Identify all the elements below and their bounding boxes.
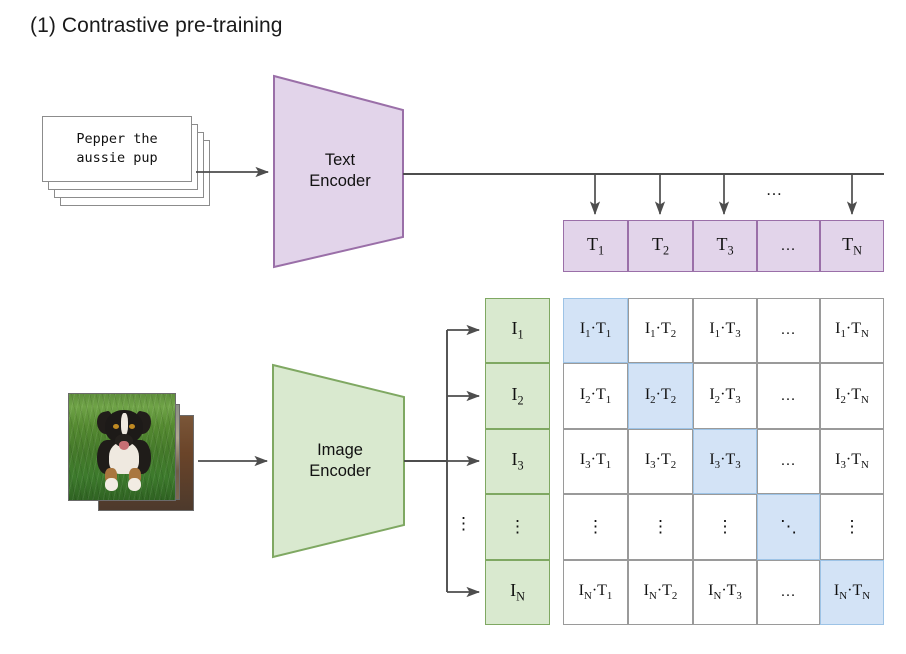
text-encoder-shape[interactable] <box>274 76 403 267</box>
text-embedding-cell-1[interactable]: T1 <box>563 220 628 272</box>
image-encoder-shape[interactable] <box>273 365 404 557</box>
text-embedding-cell-N[interactable]: TN <box>820 220 884 272</box>
cell-text: IN·T1 <box>579 582 613 602</box>
text-embedding-cell-2[interactable]: T2 <box>628 220 693 272</box>
matrix-cell-i2-tN[interactable]: I2·TN <box>820 363 884 429</box>
puppy-blaze <box>121 413 128 435</box>
puppy-paw-right <box>128 478 141 491</box>
matrix-cell-i2-t1[interactable]: I2·T1 <box>563 363 628 429</box>
cell-text: I2 <box>511 384 523 409</box>
cell-text: IN·T2 <box>644 582 678 602</box>
matrix-cell-r1-c4[interactable]: … <box>757 298 820 363</box>
matrix-cell-iN-t3[interactable]: IN·T3 <box>693 560 757 625</box>
image-embedding-cell-3[interactable]: I3 <box>485 429 550 494</box>
text-embedding-cell-3[interactable]: T3 <box>693 220 757 272</box>
puppy-tongue <box>119 441 129 450</box>
matrix-cell-r4-c3[interactable]: ⋮ <box>693 494 757 560</box>
puppy-eye-right <box>129 424 135 429</box>
image-input-stack <box>68 393 198 513</box>
cell-text: I1·T1 <box>580 320 611 340</box>
matrix-cell-r5-c4[interactable]: … <box>757 560 820 625</box>
matrix-cell-r4-c5[interactable]: ⋮ <box>820 494 884 560</box>
text-encoder-label: Text Encoder <box>278 150 402 192</box>
matrix-cell-i3-t1[interactable]: I3·T1 <box>563 429 628 494</box>
cell-text: I3 <box>511 449 523 474</box>
cell-text: IN·TN <box>834 582 870 602</box>
text-card-front: Pepper the aussie pup <box>42 116 192 182</box>
cell-text: T1 <box>587 234 604 259</box>
matrix-cell-r4-c1[interactable]: ⋮ <box>563 494 628 560</box>
image-encoder-label: Image Encoder <box>278 440 402 482</box>
matrix-cell-iN-t2[interactable]: IN·T2 <box>628 560 693 625</box>
matrix-cell-i2-t2[interactable]: I2·T2 <box>628 363 693 429</box>
cell-text: I3·T2 <box>645 451 676 471</box>
matrix-cell-i2-t3[interactable]: I2·T3 <box>693 363 757 429</box>
matrix-cell-iN-tN[interactable]: IN·TN <box>820 560 884 625</box>
image-embedding-cell-2[interactable]: I2 <box>485 363 550 429</box>
cell-text: T3 <box>716 234 733 259</box>
matrix-cell-i1-t1[interactable]: I1·T1 <box>563 298 628 363</box>
text-input-stack: Pepper the aussie pup <box>42 116 232 226</box>
image-embedding-cell-N[interactable]: IN <box>485 560 550 625</box>
puppy-eye-left <box>113 424 119 429</box>
matrix-cell-i1-tN[interactable]: I1·TN <box>820 298 884 363</box>
matrix-cell-i1-t2[interactable]: I1·T2 <box>628 298 693 363</box>
text-fanout-ellipsis: … <box>766 182 783 200</box>
cell-text: … <box>781 388 797 405</box>
image-encoder-line1: Image <box>278 440 402 461</box>
matrix-cell-r4-c4[interactable]: ⋱ <box>757 494 820 560</box>
diagram-canvas: (1) Contrastive pre-training Pepper the … <box>0 0 906 654</box>
page-title: (1) Contrastive pre-training <box>30 14 283 38</box>
cell-text: I2·TN <box>835 386 869 406</box>
text-encoder-line1: Text <box>278 150 402 171</box>
cell-text: I2·T3 <box>709 386 740 406</box>
cell-text: T2 <box>652 234 669 259</box>
cell-text: I1·T2 <box>645 320 676 340</box>
cell-text: I3·T3 <box>709 451 740 471</box>
cell-text: I1 <box>511 318 523 343</box>
image-encoder-line2: Encoder <box>278 461 402 482</box>
cell-text: I2·T2 <box>645 386 676 406</box>
matrix-cell-i1-t3[interactable]: I1·T3 <box>693 298 757 363</box>
puppy-paw-left <box>105 478 118 491</box>
puppy-figure <box>95 410 153 492</box>
matrix-cell-r2-c4[interactable]: … <box>757 363 820 429</box>
cell-text: I1·TN <box>835 320 869 340</box>
image-column-ellipsis: ⋮ <box>455 514 472 534</box>
photo-front-puppy <box>68 393 176 501</box>
cell-text: I3·TN <box>835 451 869 471</box>
matrix-cell-r4-c2[interactable]: ⋮ <box>628 494 693 560</box>
cell-text: TN <box>842 234 862 259</box>
matrix-cell-i3-tN[interactable]: I3·TN <box>820 429 884 494</box>
cell-text: I3·T1 <box>580 451 611 471</box>
cell-text: I2·T1 <box>580 386 611 406</box>
matrix-cell-i3-t2[interactable]: I3·T2 <box>628 429 693 494</box>
text-encoder-line2: Encoder <box>278 171 402 192</box>
cell-text: … <box>781 238 797 255</box>
cell-text: … <box>781 322 797 339</box>
cell-text: I1·T3 <box>709 320 740 340</box>
cell-text: … <box>781 453 797 470</box>
image-embedding-cell-1[interactable]: I1 <box>485 298 550 363</box>
image-embedding-cell-ellipsis[interactable]: ⋮ <box>485 494 550 560</box>
caption-text: Pepper the aussie pup <box>76 130 157 168</box>
matrix-cell-r3-c4[interactable]: … <box>757 429 820 494</box>
cell-text: IN <box>510 580 525 605</box>
text-embedding-cell-ellipsis[interactable]: … <box>757 220 820 272</box>
matrix-cell-i3-t3[interactable]: I3·T3 <box>693 429 757 494</box>
cell-text: IN·T3 <box>708 582 742 602</box>
matrix-cell-iN-t1[interactable]: IN·T1 <box>563 560 628 625</box>
cell-text: … <box>781 584 797 601</box>
